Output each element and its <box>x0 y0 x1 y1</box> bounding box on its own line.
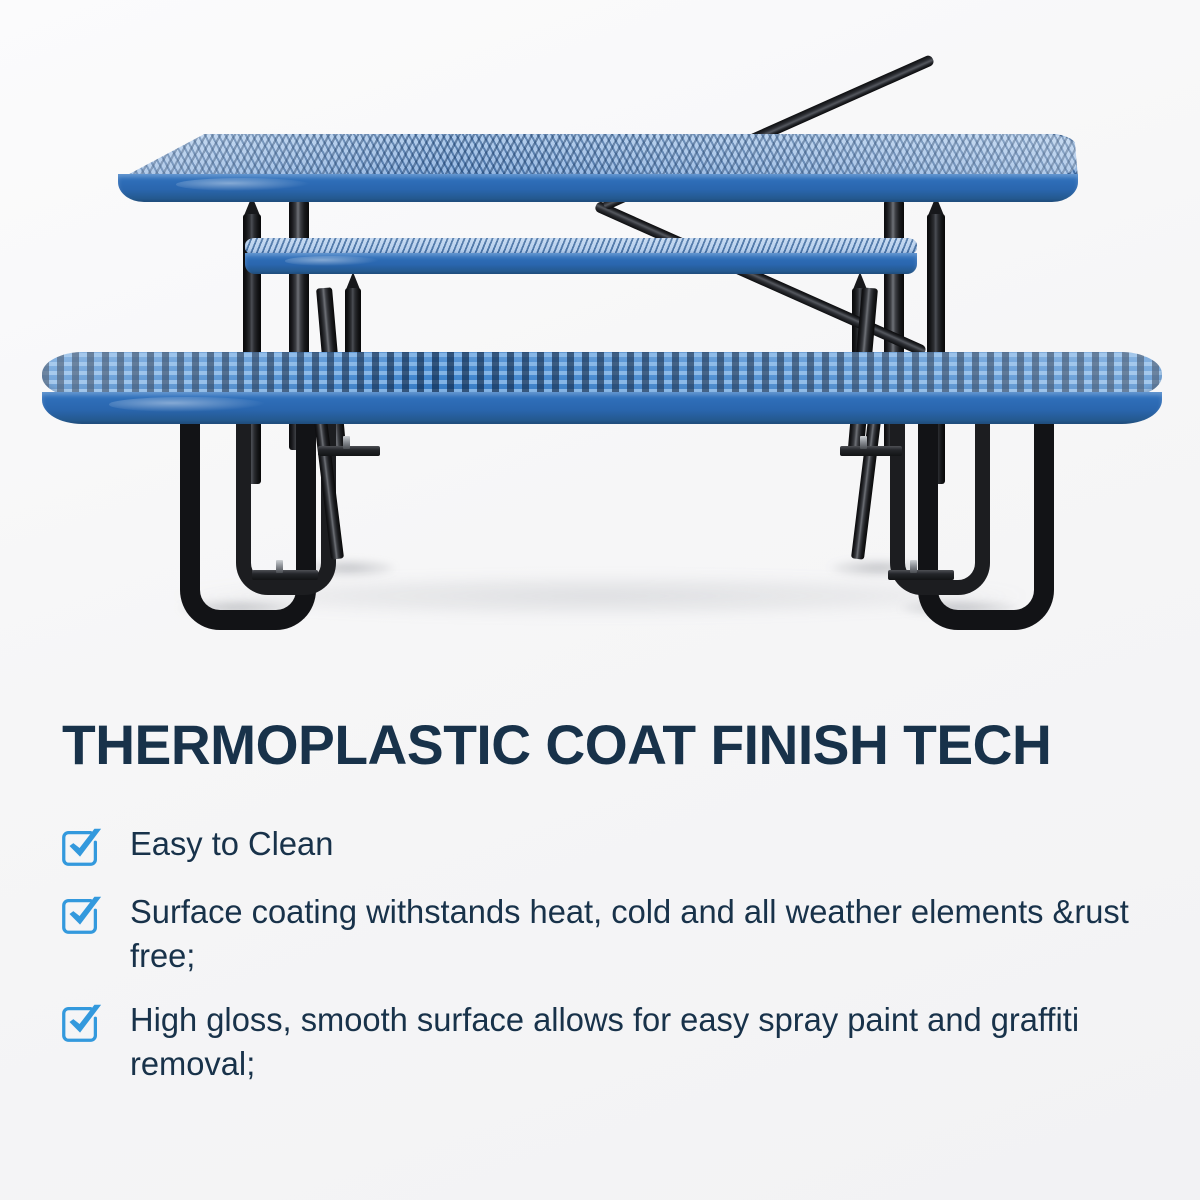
product-photo <box>0 0 1200 690</box>
back-bench-edge <box>245 253 917 274</box>
table-top-edge <box>118 174 1078 202</box>
leg-u-right-inner <box>890 414 990 595</box>
foot-plate <box>840 446 902 456</box>
foot-bolt <box>860 436 867 449</box>
page-title: THERMOPLASTIC COAT FINISH TECH <box>62 717 1146 773</box>
checkbox-checked-icon <box>58 824 104 870</box>
back-bench-panel <box>245 238 917 274</box>
table-top-panel <box>118 134 1078 202</box>
list-item-label: Surface coating withstands heat, cold an… <box>130 890 1130 978</box>
product-feature-card: THERMOPLASTIC COAT FINISH TECH Easy to C… <box>0 0 1200 1200</box>
table-top-deck <box>118 134 1078 178</box>
front-bench-panel <box>42 352 1162 424</box>
foot-bolt <box>276 560 283 573</box>
foot-bolt <box>343 436 350 449</box>
feature-list: Easy to Clean Surface coating withstands… <box>58 822 1168 1086</box>
foot-bolt <box>910 560 917 573</box>
list-item: High gloss, smooth surface allows for ea… <box>58 998 1168 1086</box>
list-item: Easy to Clean <box>58 822 1168 870</box>
front-bench-edge <box>42 392 1162 424</box>
foot-plate <box>252 570 318 580</box>
checkbox-checked-icon <box>58 892 104 938</box>
cross-brace-left <box>594 200 927 356</box>
list-item-label: High gloss, smooth surface allows for ea… <box>130 998 1130 1086</box>
list-item-label: Easy to Clean <box>130 822 333 866</box>
checkbox-checked-icon <box>58 1000 104 1046</box>
list-item: Surface coating withstands heat, cold an… <box>58 890 1168 978</box>
copy-block: THERMOPLASTIC COAT FINISH TECH Easy to C… <box>0 690 1200 1200</box>
foot-plate <box>888 570 954 580</box>
